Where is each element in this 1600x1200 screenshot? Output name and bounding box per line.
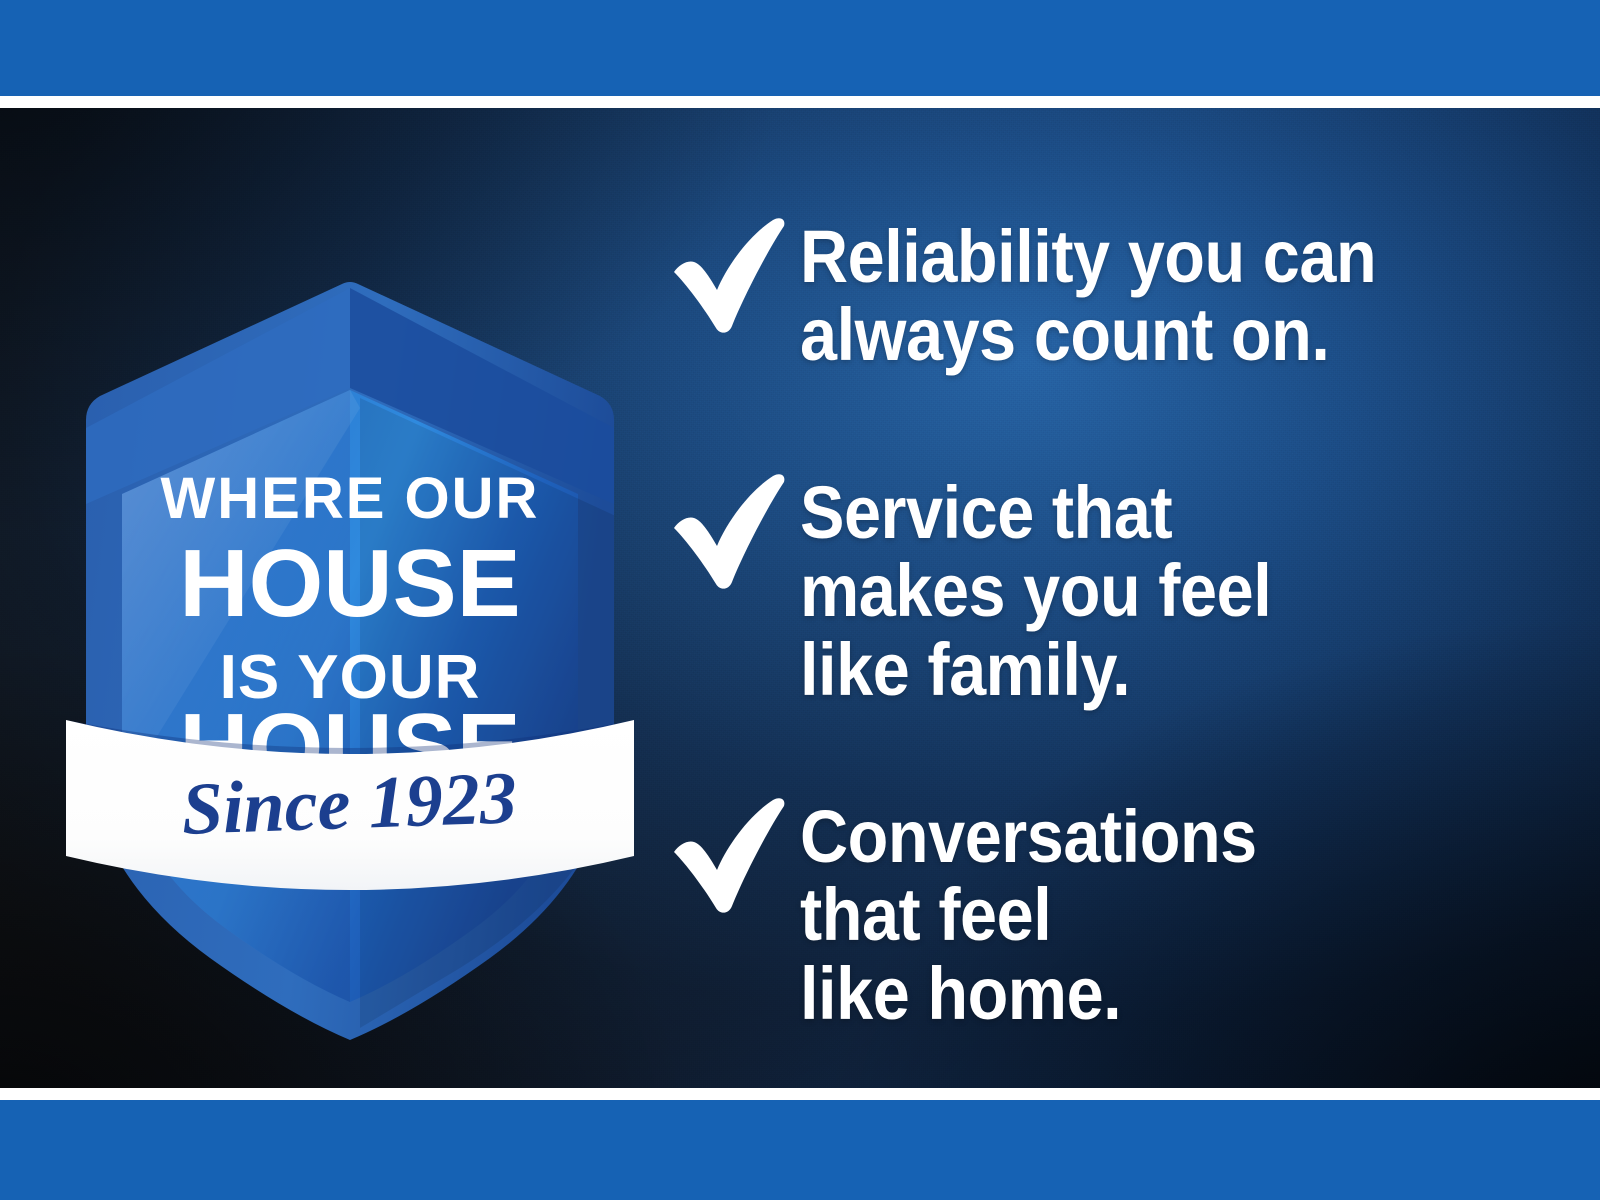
top-brand-bar: [0, 0, 1600, 96]
benefit-text-2: Service that makes you feel like family.: [800, 474, 1271, 709]
benefit-text-3: Conversations that feel like home.: [800, 798, 1257, 1033]
bottom-brand-bar: [0, 1100, 1600, 1200]
benefit-item-2: Service that makes you feel like family.: [660, 464, 1324, 709]
bottom-white-divider: [0, 1088, 1600, 1100]
shield-emblem: WHERE OUR HOUSE IS YOUR HOUSE Since 1923: [60, 268, 640, 1058]
checkmark-icon: [660, 466, 792, 598]
emblem-line-1: WHERE OUR: [161, 466, 540, 531]
top-white-divider: [0, 96, 1600, 108]
main-stage: WHERE OUR HOUSE IS YOUR HOUSE Since 1923: [0, 108, 1600, 1088]
checkmark-icon: [660, 210, 792, 342]
checkmark-icon: [660, 790, 792, 922]
ribbon-text: Since 1923: [180, 757, 518, 851]
benefit-text-1: Reliability you can always count on.: [800, 218, 1376, 375]
emblem-line-2: HOUSE: [179, 530, 520, 637]
benefit-item-3: Conversations that feel like home.: [660, 788, 1308, 1033]
promo-graphic: WHERE OUR HOUSE IS YOUR HOUSE Since 1923: [0, 0, 1600, 1200]
benefit-item-1: Reliability you can always count on.: [660, 208, 1440, 375]
